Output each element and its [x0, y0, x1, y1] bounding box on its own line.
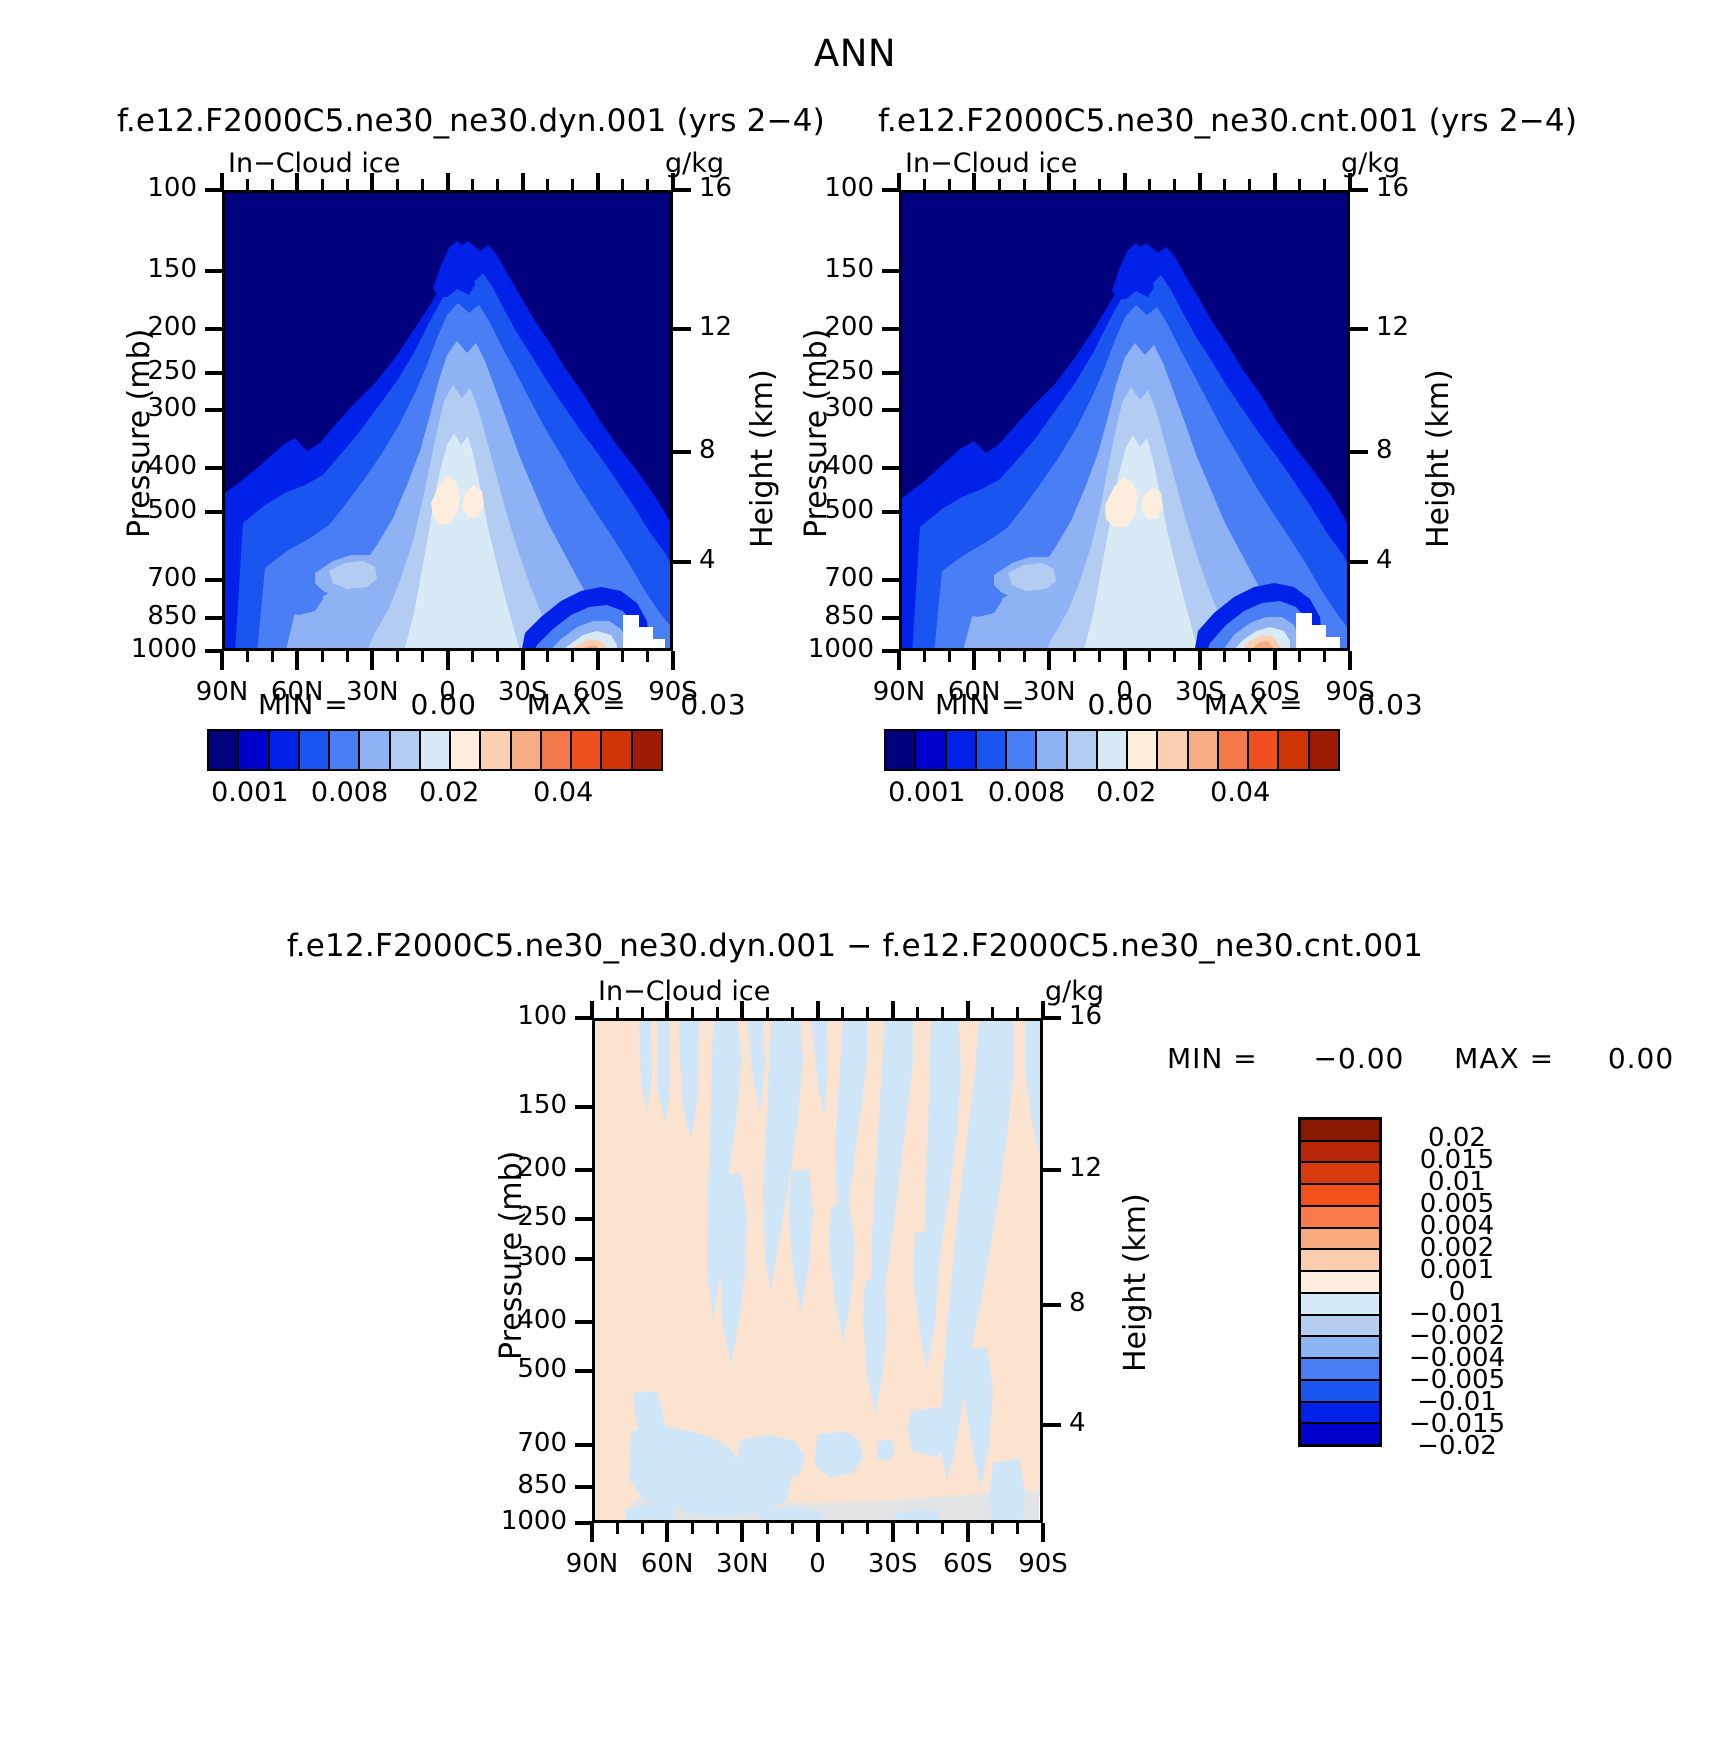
lat-tick-bottom [1173, 651, 1176, 662]
pressure-tick [575, 1521, 593, 1525]
lat-tick-top [998, 179, 1001, 190]
lat-tick-top [616, 1007, 619, 1018]
lat-tick-bottom [740, 1523, 744, 1542]
lat-tick-top [621, 179, 624, 190]
lat-tick-bottom [616, 1523, 619, 1534]
lat-tick-bottom [791, 1523, 794, 1534]
top-left-case-title: f.e12.F2000C5.ne30_ne30.dyn.001 (yrs 2−4… [117, 103, 825, 139]
top-right-case-title: f.e12.F2000C5.ne30_ne30.cnt.001 (yrs 2−4… [878, 103, 1577, 139]
pressure-tick-label: 700 [92, 563, 197, 593]
height-tick-label: 4 [1069, 1408, 1086, 1438]
colorbar-cell[interactable] [542, 731, 572, 769]
colorbar-cell[interactable] [916, 731, 946, 769]
pressure-tick [882, 408, 900, 412]
height-tick-label: 4 [1376, 545, 1393, 575]
colorbar-tick-label: 0.02 [1076, 777, 1176, 808]
height-tick [1043, 1423, 1061, 1427]
pressure-tick [575, 1217, 593, 1221]
lat-tick-bottom [370, 651, 374, 670]
lat-tick-top [1023, 179, 1026, 190]
lat-tick-top [471, 179, 474, 190]
top-right-y2label: Height (km) [1421, 369, 1456, 548]
lat-tick-top [791, 1007, 794, 1018]
colorbar-cell[interactable] [391, 731, 421, 769]
height-tick [1350, 327, 1368, 331]
pressure-tick [205, 327, 223, 331]
colorbar-cell[interactable] [300, 731, 330, 769]
lat-tick-top [1248, 179, 1251, 190]
height-tick-label: 12 [699, 312, 732, 342]
lat-tick-bottom [1223, 651, 1226, 662]
lat-tick-top [220, 173, 224, 190]
legend-cell[interactable] [1301, 1316, 1379, 1338]
pressure-tick [575, 1369, 593, 1373]
difference-plot [592, 1018, 1043, 1523]
pressure-tick [575, 1485, 593, 1489]
top-left-colorbar-labels: 0.0010.0080.020.04 [207, 777, 663, 811]
pressure-tick [882, 649, 900, 653]
bottom-units: g/kg [1045, 976, 1104, 1007]
difference-legend-labels: 0.020.0150.010.0050.0040.0020.0010−0.001… [1392, 1117, 1572, 1447]
pressure-tick-label: 700 [462, 1428, 567, 1458]
pressure-tick-label: 1000 [462, 1506, 567, 1536]
lat-tick-top [1323, 179, 1326, 190]
lat-tick-top [1298, 179, 1301, 190]
lat-tick-top [546, 179, 549, 190]
colorbar-cell[interactable] [572, 731, 602, 769]
legend-cell[interactable] [1301, 1185, 1379, 1207]
colorbar-cell[interactable] [633, 731, 661, 769]
pressure-tick-label: 1000 [769, 634, 874, 664]
top-right-max-label: MAX = [1204, 688, 1304, 721]
colorbar-cell[interactable] [1279, 731, 1309, 769]
pressure-tick [205, 371, 223, 375]
lat-tick-bottom [1298, 651, 1301, 662]
pressure-tick [882, 269, 900, 273]
height-tick [1350, 450, 1368, 454]
lat-tick-bottom [716, 1523, 719, 1534]
colorbar-cell[interactable] [1310, 731, 1338, 769]
top-right-units: g/kg [1341, 148, 1400, 179]
lat-tick-top [891, 1001, 895, 1018]
height-tick-label: 8 [1376, 435, 1393, 465]
top-right-min-value: 0.00 [1088, 688, 1154, 721]
top-left-var-label: In−Cloud ice [228, 148, 400, 179]
lat-tick-bottom [1047, 651, 1051, 670]
lat-tick-top [346, 179, 349, 190]
lat-tick-bottom [271, 651, 274, 662]
lat-tick-bottom [766, 1523, 769, 1534]
lat-tick-bottom [897, 651, 901, 670]
height-tick [673, 327, 691, 331]
legend-cell[interactable] [1301, 1337, 1379, 1359]
lat-tick-top [1173, 179, 1176, 190]
pressure-tick [575, 1320, 593, 1324]
lat-tick-bottom [1016, 1523, 1019, 1534]
difference-max-label: MAX = [1454, 1042, 1554, 1075]
legend-cell[interactable] [1301, 1272, 1379, 1294]
pressure-tick [205, 616, 223, 620]
lat-tick-top [923, 179, 926, 190]
lat-tick-bottom [1073, 651, 1076, 662]
lat-tick-bottom [866, 1523, 869, 1534]
lat-tick-bottom [841, 1523, 844, 1534]
pressure-tick [575, 1105, 593, 1109]
lat-tick-label: 90N [854, 677, 944, 707]
top-left-contour-field [225, 193, 673, 651]
lat-tick-top [1123, 173, 1127, 190]
lat-tick-bottom [1323, 651, 1326, 662]
top-right-colorbar[interactable] [884, 729, 1340, 771]
lat-tick-bottom [816, 1523, 820, 1542]
lat-tick-bottom [1348, 651, 1352, 670]
top-left-y2label: Height (km) [745, 369, 780, 548]
height-tick [1350, 560, 1368, 564]
lat-tick-bottom [346, 651, 349, 662]
lat-tick-bottom [646, 651, 649, 662]
height-tick [1043, 1303, 1061, 1307]
colorbar-cell[interactable] [1249, 731, 1279, 769]
colorbar-cell[interactable] [947, 731, 977, 769]
lat-tick-top [641, 1007, 644, 1018]
lat-tick-top [816, 1001, 820, 1018]
pressure-tick [575, 1168, 593, 1172]
lat-tick-bottom [1148, 651, 1151, 662]
lat-tick-bottom [923, 651, 926, 662]
legend-label: −0.02 [1392, 1431, 1522, 1461]
lat-tick-top [1148, 179, 1151, 190]
lat-tick-top [991, 1007, 994, 1018]
pressure-tick [205, 466, 223, 470]
lat-tick-top [271, 179, 274, 190]
colorbar-tick-label: 0.008 [977, 777, 1077, 808]
lat-tick-bottom [246, 651, 249, 662]
bottom-var-label: In−Cloud ice [598, 976, 770, 1007]
pressure-tick [882, 510, 900, 514]
lat-tick-top [521, 173, 525, 190]
height-tick-label: 12 [1376, 312, 1409, 342]
colorbar-cell[interactable] [481, 731, 511, 769]
legend-cell[interactable] [1301, 1142, 1379, 1164]
lat-tick-bottom [546, 651, 549, 662]
pressure-tick [205, 408, 223, 412]
lat-tick-bottom [998, 651, 1001, 662]
lat-tick-bottom [496, 651, 499, 662]
lat-tick-bottom [471, 651, 474, 662]
height-tick-label: 4 [699, 545, 716, 575]
lat-tick-bottom [972, 651, 976, 670]
pressure-tick [882, 616, 900, 620]
colorbar-tick-label: 0.04 [513, 777, 613, 808]
lat-tick-bottom [590, 1523, 594, 1542]
colorbar-cell[interactable] [1098, 731, 1128, 769]
pressure-tick-label: 100 [462, 1001, 567, 1031]
top-right-colorbar-labels: 0.0010.0080.020.04 [884, 777, 1340, 811]
pressure-tick [882, 188, 900, 192]
lat-tick-bottom [321, 651, 324, 662]
legend-cell[interactable] [1301, 1424, 1379, 1444]
colorbar-cell[interactable] [451, 731, 481, 769]
colorbar-cell[interactable] [1037, 731, 1067, 769]
colorbar-cell[interactable] [886, 731, 916, 769]
top-left-colorbar[interactable] [207, 729, 663, 771]
colorbar-cell[interactable] [209, 731, 239, 769]
difference-title: f.e12.F2000C5.ne30_ne30.dyn.001 − f.e12.… [0, 928, 1710, 964]
lat-tick-top [596, 173, 600, 190]
colorbar-cell[interactable] [1158, 731, 1188, 769]
height-tick-label: 12 [1069, 1153, 1102, 1183]
pressure-tick-label: 150 [769, 254, 874, 284]
lat-tick-top [941, 1007, 944, 1018]
height-tick-label: 8 [1069, 1288, 1086, 1318]
lat-tick-top [1273, 173, 1277, 190]
colorbar-cell[interactable] [270, 731, 300, 769]
top-right-plot [899, 190, 1350, 651]
lat-tick-top [246, 179, 249, 190]
legend-cell[interactable] [1301, 1294, 1379, 1316]
colorbar-cell[interactable] [421, 731, 451, 769]
legend-cell[interactable] [1301, 1381, 1379, 1403]
pressure-tick-label: 850 [92, 601, 197, 631]
lat-tick-label: 90N [547, 1549, 637, 1579]
pressure-tick [205, 578, 223, 582]
pressure-tick [205, 269, 223, 273]
top-left-minmax: MIN = 0.00 MAX = 0.03 [258, 688, 747, 721]
top-left-min-value: 0.00 [411, 688, 477, 721]
colorbar-tick-label: 0.001 [200, 777, 300, 808]
colorbar-tick-label: 0.02 [399, 777, 499, 808]
lat-tick-bottom [295, 651, 299, 670]
colorbar-cell[interactable] [977, 731, 1007, 769]
colorbar-cell[interactable] [1189, 731, 1219, 769]
top-left-ylabel: Pressure (mb) [122, 329, 157, 538]
pressure-tick [205, 510, 223, 514]
lat-tick-bottom [991, 1523, 994, 1534]
height-tick [673, 188, 691, 192]
difference-contour-field [595, 1021, 1043, 1523]
bottom-ylabel: Pressure (mb) [494, 1151, 529, 1360]
colorbar-tick-label: 0.04 [1190, 777, 1290, 808]
lat-tick-bottom [571, 651, 574, 662]
page-title: ANN [0, 32, 1710, 75]
pressure-tick [205, 188, 223, 192]
pressure-tick-label: 100 [769, 173, 874, 203]
top-right-contour-field [902, 193, 1350, 651]
pressure-tick [205, 649, 223, 653]
colorbar-cell[interactable] [330, 731, 360, 769]
colorbar-tick-label: 0.008 [300, 777, 400, 808]
lat-tick-bottom [941, 1523, 944, 1534]
colorbar-cell[interactable] [1128, 731, 1158, 769]
lat-tick-bottom [621, 651, 624, 662]
lat-tick-top [766, 1007, 769, 1018]
difference-legend[interactable] [1298, 1117, 1382, 1447]
lat-tick-top [1198, 173, 1202, 190]
lat-tick-bottom [1041, 1523, 1045, 1542]
lat-tick-label: 0 [773, 1549, 863, 1579]
pressure-tick [882, 327, 900, 331]
lat-tick-top [590, 1001, 594, 1018]
pressure-tick [575, 1257, 593, 1261]
lat-tick-bottom [691, 1523, 694, 1534]
lat-tick-label: 60N [622, 1549, 712, 1579]
lat-tick-bottom [671, 651, 675, 670]
top-left-max-value: 0.03 [680, 688, 746, 721]
lat-tick-bottom [421, 651, 424, 662]
lat-tick-bottom [521, 651, 525, 670]
difference-min-value: −0.00 [1314, 1042, 1405, 1075]
colorbar-cell[interactable] [602, 731, 632, 769]
lat-tick-bottom [1273, 651, 1277, 670]
top-left-max-label: MAX = [527, 688, 627, 721]
lat-tick-bottom [966, 1523, 970, 1542]
lat-tick-bottom [948, 651, 951, 662]
top-left-plot [222, 190, 673, 651]
lat-tick-top [1016, 1007, 1019, 1018]
pressure-tick [575, 1443, 593, 1447]
legend-cell[interactable] [1301, 1120, 1379, 1142]
lat-tick-top [421, 179, 424, 190]
lat-tick-top [966, 1001, 970, 1018]
top-right-var-label: In−Cloud ice [905, 148, 1077, 179]
colorbar-cell[interactable] [1068, 731, 1098, 769]
lat-tick-bottom [1248, 651, 1251, 662]
lat-tick-label: 90N [177, 677, 267, 707]
pressure-tick [882, 578, 900, 582]
colorbar-cell[interactable] [1007, 731, 1037, 769]
lat-tick-top [841, 1007, 844, 1018]
top-right-ylabel: Pressure (mb) [799, 329, 834, 538]
lat-tick-bottom [1198, 651, 1202, 670]
lat-tick-top [1223, 179, 1226, 190]
lat-tick-bottom [916, 1523, 919, 1534]
height-tick-label: 8 [699, 435, 716, 465]
lat-tick-top [1073, 179, 1076, 190]
lat-tick-top [496, 179, 499, 190]
pressure-tick-label: 150 [462, 1090, 567, 1120]
lat-tick-bottom [446, 651, 450, 670]
height-tick [673, 560, 691, 564]
lat-tick-bottom [641, 1523, 644, 1534]
pressure-tick-label: 100 [92, 173, 197, 203]
legend-cell[interactable] [1301, 1250, 1379, 1272]
pressure-tick-label: 700 [769, 563, 874, 593]
top-right-min-label: MIN = [935, 688, 1026, 721]
pressure-tick [882, 466, 900, 470]
top-right-minmax: MIN = 0.00 MAX = 0.03 [935, 688, 1424, 721]
lat-tick-top [321, 179, 324, 190]
pressure-tick-label: 850 [769, 601, 874, 631]
lat-tick-bottom [891, 1523, 895, 1542]
legend-cell[interactable] [1301, 1229, 1379, 1251]
lat-tick-top [571, 179, 574, 190]
lat-tick-label: 90S [998, 1549, 1088, 1579]
height-tick [1350, 188, 1368, 192]
lat-tick-label: 30N [697, 1549, 787, 1579]
pressure-tick-label: 150 [92, 254, 197, 284]
pressure-tick-label: 850 [462, 1470, 567, 1500]
lat-tick-bottom [220, 651, 224, 670]
top-right-max-value: 0.03 [1357, 688, 1423, 721]
difference-max-value: 0.00 [1608, 1042, 1674, 1075]
lat-tick-label: 60S [923, 1549, 1013, 1579]
colorbar-cell[interactable] [360, 731, 390, 769]
pressure-tick-label: 1000 [92, 634, 197, 664]
legend-cell[interactable] [1301, 1163, 1379, 1185]
height-tick [1043, 1016, 1061, 1020]
lat-tick-top [646, 179, 649, 190]
difference-minmax: MIN = −0.00 MAX = 0.00 [1167, 1042, 1674, 1075]
lat-tick-bottom [665, 1523, 669, 1542]
height-tick [673, 450, 691, 454]
pressure-tick [575, 1016, 593, 1020]
colorbar-tick-label: 0.001 [877, 777, 977, 808]
colorbar-cell[interactable] [239, 731, 269, 769]
lat-tick-top [691, 1007, 694, 1018]
lat-tick-top [897, 173, 901, 190]
lat-tick-label: 30S [848, 1549, 938, 1579]
legend-cell[interactable] [1301, 1207, 1379, 1229]
lat-tick-bottom [396, 651, 399, 662]
difference-min-label: MIN = [1167, 1042, 1258, 1075]
top-left-units: g/kg [665, 148, 724, 179]
lat-tick-top [866, 1007, 869, 1018]
legend-cell[interactable] [1301, 1403, 1379, 1425]
height-tick [1043, 1168, 1061, 1172]
bottom-y2label: Height (km) [1118, 1193, 1153, 1372]
lat-tick-top [916, 1007, 919, 1018]
lat-tick-top [948, 179, 951, 190]
top-left-min-label: MIN = [258, 688, 349, 721]
legend-cell[interactable] [1301, 1359, 1379, 1381]
lat-tick-bottom [1023, 651, 1026, 662]
pressure-tick [882, 371, 900, 375]
lat-tick-top [446, 173, 450, 190]
colorbar-cell[interactable] [1219, 731, 1249, 769]
lat-tick-top [1098, 179, 1101, 190]
lat-tick-top [716, 1007, 719, 1018]
lat-tick-bottom [1123, 651, 1127, 670]
colorbar-cell[interactable] [512, 731, 542, 769]
lat-tick-bottom [1098, 651, 1101, 662]
lat-tick-top [396, 179, 399, 190]
lat-tick-bottom [596, 651, 600, 670]
